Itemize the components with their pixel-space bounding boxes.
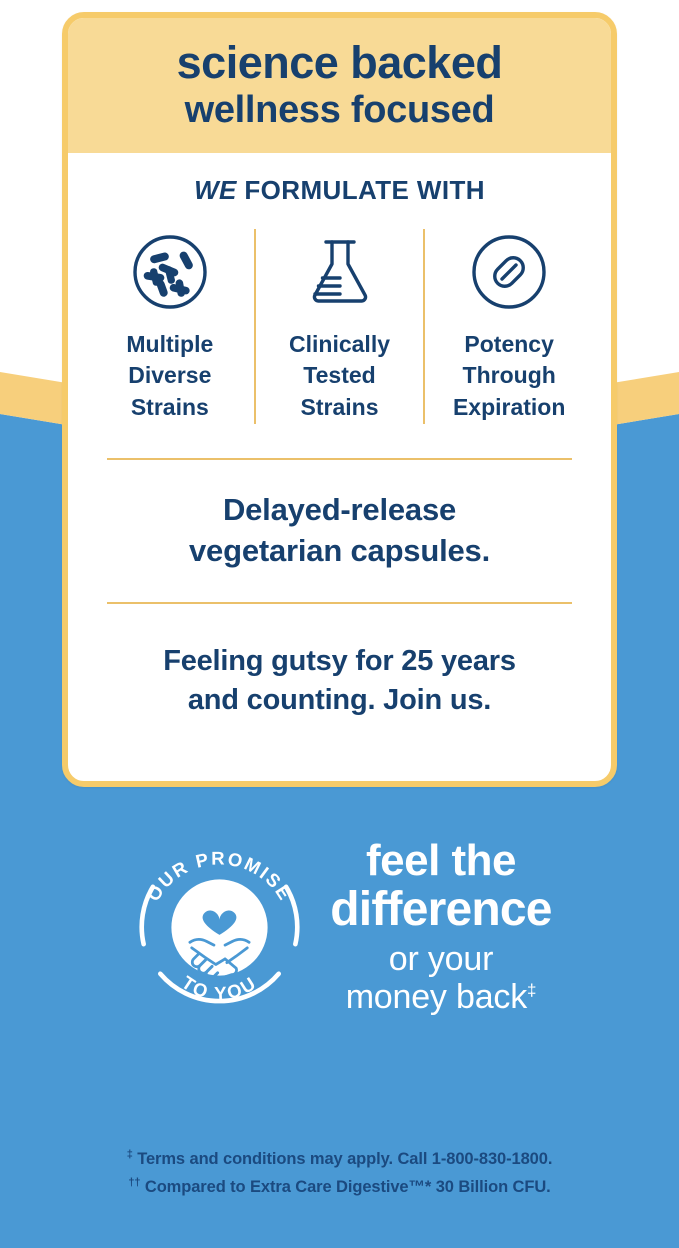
delayed-release-line-2: vegetarian capsules. xyxy=(86,531,593,572)
features-row: Multiple Diverse Strains xyxy=(86,229,593,424)
formulate-emphasis: WE xyxy=(194,175,237,205)
feature-label-1: Multiple Diverse Strains xyxy=(126,329,213,424)
gutsy-line-1: Feeling gutsy for 25 years xyxy=(86,642,593,681)
feature-label-2-line-2: Tested xyxy=(289,360,390,392)
flask-icon xyxy=(300,229,380,315)
footnote-1-marker: ‡ xyxy=(127,1149,133,1161)
feature-label-1-line-1: Multiple xyxy=(126,329,213,361)
feature-label-3-line-3: Expiration xyxy=(453,392,565,424)
promise-line-1: feel the xyxy=(330,839,551,883)
card-header-banner: science backed wellness focused xyxy=(68,18,611,153)
formulate-with-label: WE FORMULATE WITH xyxy=(86,177,593,203)
badge-bottom-arc-text: TO YOU xyxy=(178,972,261,1004)
bacteria-circle-icon xyxy=(130,229,210,315)
feature-label-2: Clinically Tested Strains xyxy=(289,329,390,424)
delayed-release-line-1: Delayed-release xyxy=(86,490,593,531)
promise-headline: feel the difference or your money back‡ xyxy=(330,839,551,1016)
feature-potency-through-expiration: Potency Through Expiration xyxy=(423,229,593,424)
footnote-1: ‡ Terms and conditions may apply. Call 1… xyxy=(0,1145,679,1173)
feature-label-1-line-2: Diverse xyxy=(126,360,213,392)
feature-label-3-line-1: Potency xyxy=(453,329,565,361)
feature-clinically-tested-strains: Clinically Tested Strains xyxy=(254,229,424,424)
feature-multiple-diverse-strains: Multiple Diverse Strains xyxy=(86,229,254,424)
gutsy-statement: Feeling gutsy for 25 years and counting.… xyxy=(86,642,593,720)
feature-label-1-line-3: Strains xyxy=(126,392,213,424)
card-body: WE FORMULATE WITH xyxy=(68,177,611,720)
delayed-release-statement: Delayed-release vegetarian capsules. xyxy=(86,490,593,572)
footnotes-block: ‡ Terms and conditions may apply. Call 1… xyxy=(0,1145,679,1202)
promise-line-4-marker: ‡ xyxy=(527,980,536,999)
feature-label-3: Potency Through Expiration xyxy=(453,329,565,424)
footnote-2-marker: †† xyxy=(128,1177,140,1189)
divider-rule-bottom xyxy=(107,602,572,604)
feature-label-2-line-3: Strains xyxy=(289,392,390,424)
promise-line-2: difference xyxy=(330,885,551,935)
headline-line-1: science backed xyxy=(84,40,595,85)
footnote-1-text: Terms and conditions may apply. Call 1-8… xyxy=(137,1150,552,1168)
footnote-2: †† Compared to Extra Care Digestive™* 30… xyxy=(0,1173,679,1201)
footnote-2-text: Compared to Extra Care Digestive™* 30 Bi… xyxy=(145,1178,551,1196)
capsule-circle-icon xyxy=(469,229,549,315)
divider-rule-top xyxy=(107,458,572,460)
promise-line-3: or your xyxy=(330,940,551,978)
promise-line-4-text: money back xyxy=(346,978,527,1016)
claims-card: science backed wellness focused WE FORMU… xyxy=(62,12,617,787)
feature-label-3-line-2: Through xyxy=(453,360,565,392)
formulate-rest: FORMULATE WITH xyxy=(244,175,485,205)
feature-label-2-line-1: Clinically xyxy=(289,329,390,361)
headline-line-2: wellness focused xyxy=(84,89,595,133)
gutsy-line-2: and counting. Join us. xyxy=(86,681,593,720)
promise-section: OUR PROMISE TO YOU fe xyxy=(0,835,679,1020)
promise-line-4: money back‡ xyxy=(330,978,551,1016)
our-promise-badge: OUR PROMISE TO YOU xyxy=(127,835,312,1020)
product-claims-panel: science backed wellness focused WE FORMU… xyxy=(0,0,679,1248)
